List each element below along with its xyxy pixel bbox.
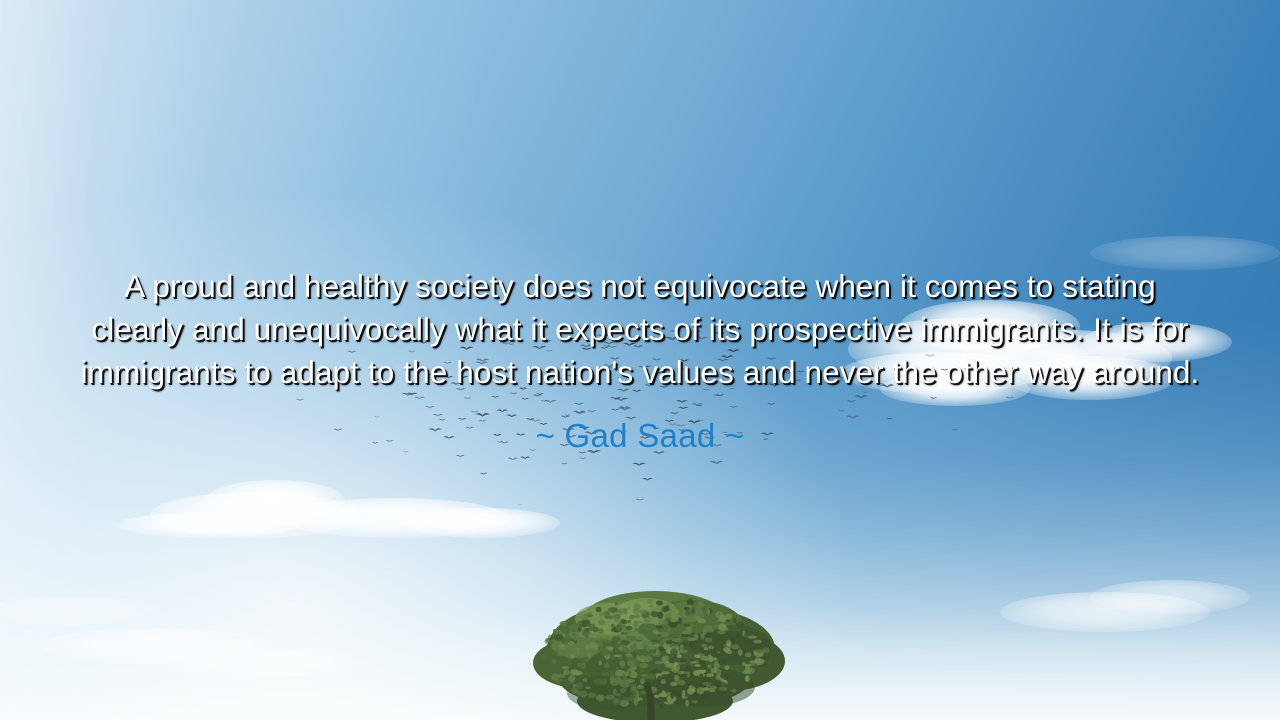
quote-text: A proud and healthy society does not equ…	[79, 0, 1201, 394]
quote-author: ~ Gad Saad ~	[535, 394, 744, 456]
quote-content: A proud and healthy society does not equ…	[0, 0, 1280, 720]
quote-card: A proud and healthy society does not equ…	[0, 0, 1280, 720]
